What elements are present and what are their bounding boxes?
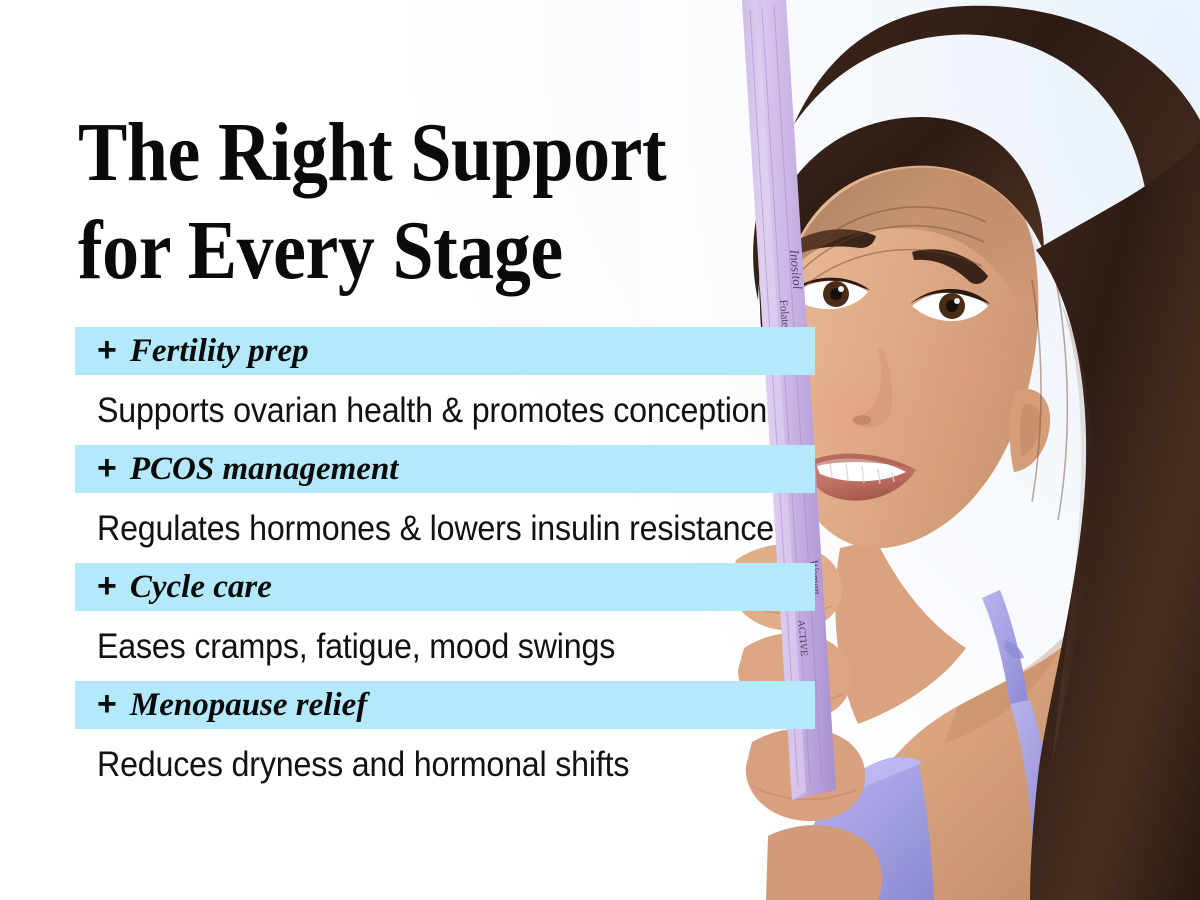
feature-item-cycle-care: + Cycle care Eases cramps, fatigue, mood… — [0, 563, 1200, 681]
feature-item-menopause-relief: + Menopause relief Reduces dryness and h… — [0, 681, 1200, 799]
feature-bar: + Menopause relief — [75, 681, 815, 729]
feature-label: Cycle care — [130, 571, 272, 604]
feature-item-fertility-prep: + Fertility prep Supports ovarian health… — [0, 327, 1200, 445]
feature-bar: + Fertility prep — [75, 327, 815, 375]
feature-description: Supports ovarian health & promotes conce… — [97, 375, 1112, 445]
plus-icon: + — [97, 569, 117, 603]
feature-description: Reduces dryness and hormonal shifts — [97, 729, 1112, 799]
feature-item-pcos-management: + PCOS management Regulates hormones & l… — [0, 445, 1200, 563]
feature-bar: + Cycle care — [75, 563, 815, 611]
plus-icon: + — [97, 451, 117, 485]
feature-label: Fertility prep — [130, 335, 309, 368]
feature-description: Eases cramps, fatigue, mood swings — [97, 611, 1112, 681]
feature-label: PCOS management — [130, 453, 399, 486]
feature-bar: + PCOS management — [75, 445, 815, 493]
headline-line-2: for Every Stage — [78, 202, 694, 300]
feature-list: + Fertility prep Supports ovarian health… — [0, 327, 1200, 799]
promo-banner: Inositol Folate + Myo Women ACTIVE The R… — [0, 0, 1200, 900]
headline-line-1: The Right Support — [78, 104, 694, 202]
feature-label: Menopause relief — [130, 689, 367, 722]
page-title: The Right Support for Every Stage — [78, 104, 694, 300]
plus-icon: + — [97, 333, 117, 367]
feature-description: Regulates hormones & lowers insulin resi… — [97, 493, 1112, 563]
plus-icon: + — [97, 687, 117, 721]
